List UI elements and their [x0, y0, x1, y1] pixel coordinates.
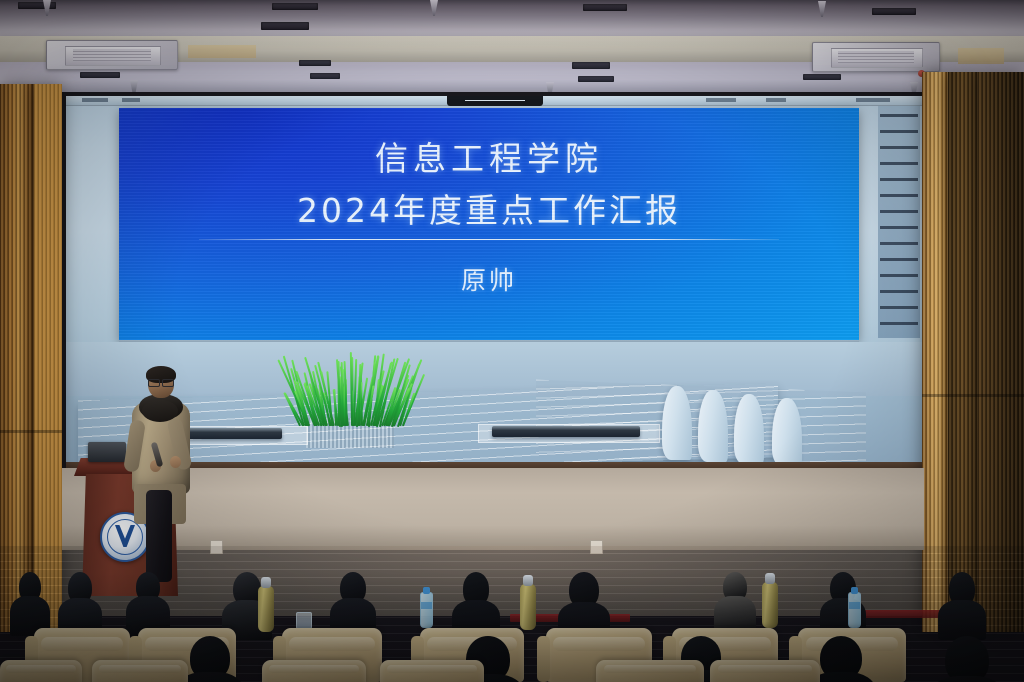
wood-panel-seam — [0, 430, 62, 433]
ceiling-vent-slot — [583, 4, 627, 11]
wood-panel-seam-right — [922, 394, 1024, 397]
projection-surface: 信息工程学院 2024年度重点工作汇报 原帅 — [66, 96, 924, 472]
audience-shoulders — [938, 600, 986, 640]
wallpaper-chair — [772, 398, 802, 466]
slide-title: 信息工程学院 — [119, 132, 859, 180]
presenter-collar — [142, 400, 178, 422]
slide-thumbnail-strip[interactable] — [878, 106, 920, 338]
desktop-wallpaper — [66, 342, 924, 472]
thermos-flask — [762, 582, 778, 628]
presenter — [128, 368, 192, 580]
ceiling-speaker-icon — [803, 74, 841, 80]
ceiling-vent-slot — [272, 3, 318, 10]
toolbar-center-control[interactable] — [447, 96, 543, 106]
thermos-flask — [520, 584, 536, 630]
glasses-icon — [148, 379, 174, 385]
audience-chair-front[interactable] — [262, 660, 366, 682]
audience-chair-front[interactable] — [710, 660, 820, 682]
slide-divider — [199, 239, 779, 240]
audience-chair-front[interactable] — [92, 660, 188, 682]
podium-laptop — [88, 442, 126, 462]
ceiling-panel-patch — [188, 45, 256, 58]
water-bottle — [848, 592, 861, 628]
ceiling-vent-slot — [872, 8, 916, 15]
wallpaper-chair — [662, 386, 692, 460]
presenter-hand-right — [170, 456, 181, 468]
wallpaper-plant — [294, 352, 406, 426]
wallpaper-laptop-right — [492, 426, 640, 437]
powerpoint-slide[interactable]: 信息工程学院 2024年度重点工作汇报 原帅 — [119, 108, 859, 340]
ceiling-speaker-icon — [310, 73, 340, 79]
thermos-flask — [258, 586, 274, 632]
audience-chair-front[interactable] — [0, 660, 82, 682]
ac-diffuser-right-icon — [812, 42, 940, 72]
wallpaper-wall — [66, 342, 924, 396]
ceiling-speaker-icon — [572, 62, 610, 69]
wallpaper-chair — [734, 394, 764, 464]
audience-chair-front[interactable] — [380, 660, 484, 682]
presenter-trousers — [146, 490, 172, 582]
ceiling-speaker-icon — [578, 76, 614, 82]
wallpaper-chair — [698, 390, 728, 462]
water-bottle — [420, 592, 433, 628]
slide-subtitle: 2024年度重点工作汇报 — [119, 184, 859, 232]
slide-presenter-name: 原帅 — [119, 261, 859, 297]
ceiling-panel-patch-right — [958, 48, 1004, 64]
ceiling-vent-slot — [261, 22, 309, 30]
auditorium-presentation-photo: 信息工程学院 2024年度重点工作汇报 原帅 — [0, 0, 1024, 682]
ac-diffuser-left-icon — [46, 40, 178, 70]
ceiling-speaker-icon — [80, 72, 120, 78]
audience-chair-front[interactable] — [596, 660, 704, 682]
ceiling-speaker-icon — [299, 60, 331, 66]
chair-armrest — [537, 636, 550, 682]
